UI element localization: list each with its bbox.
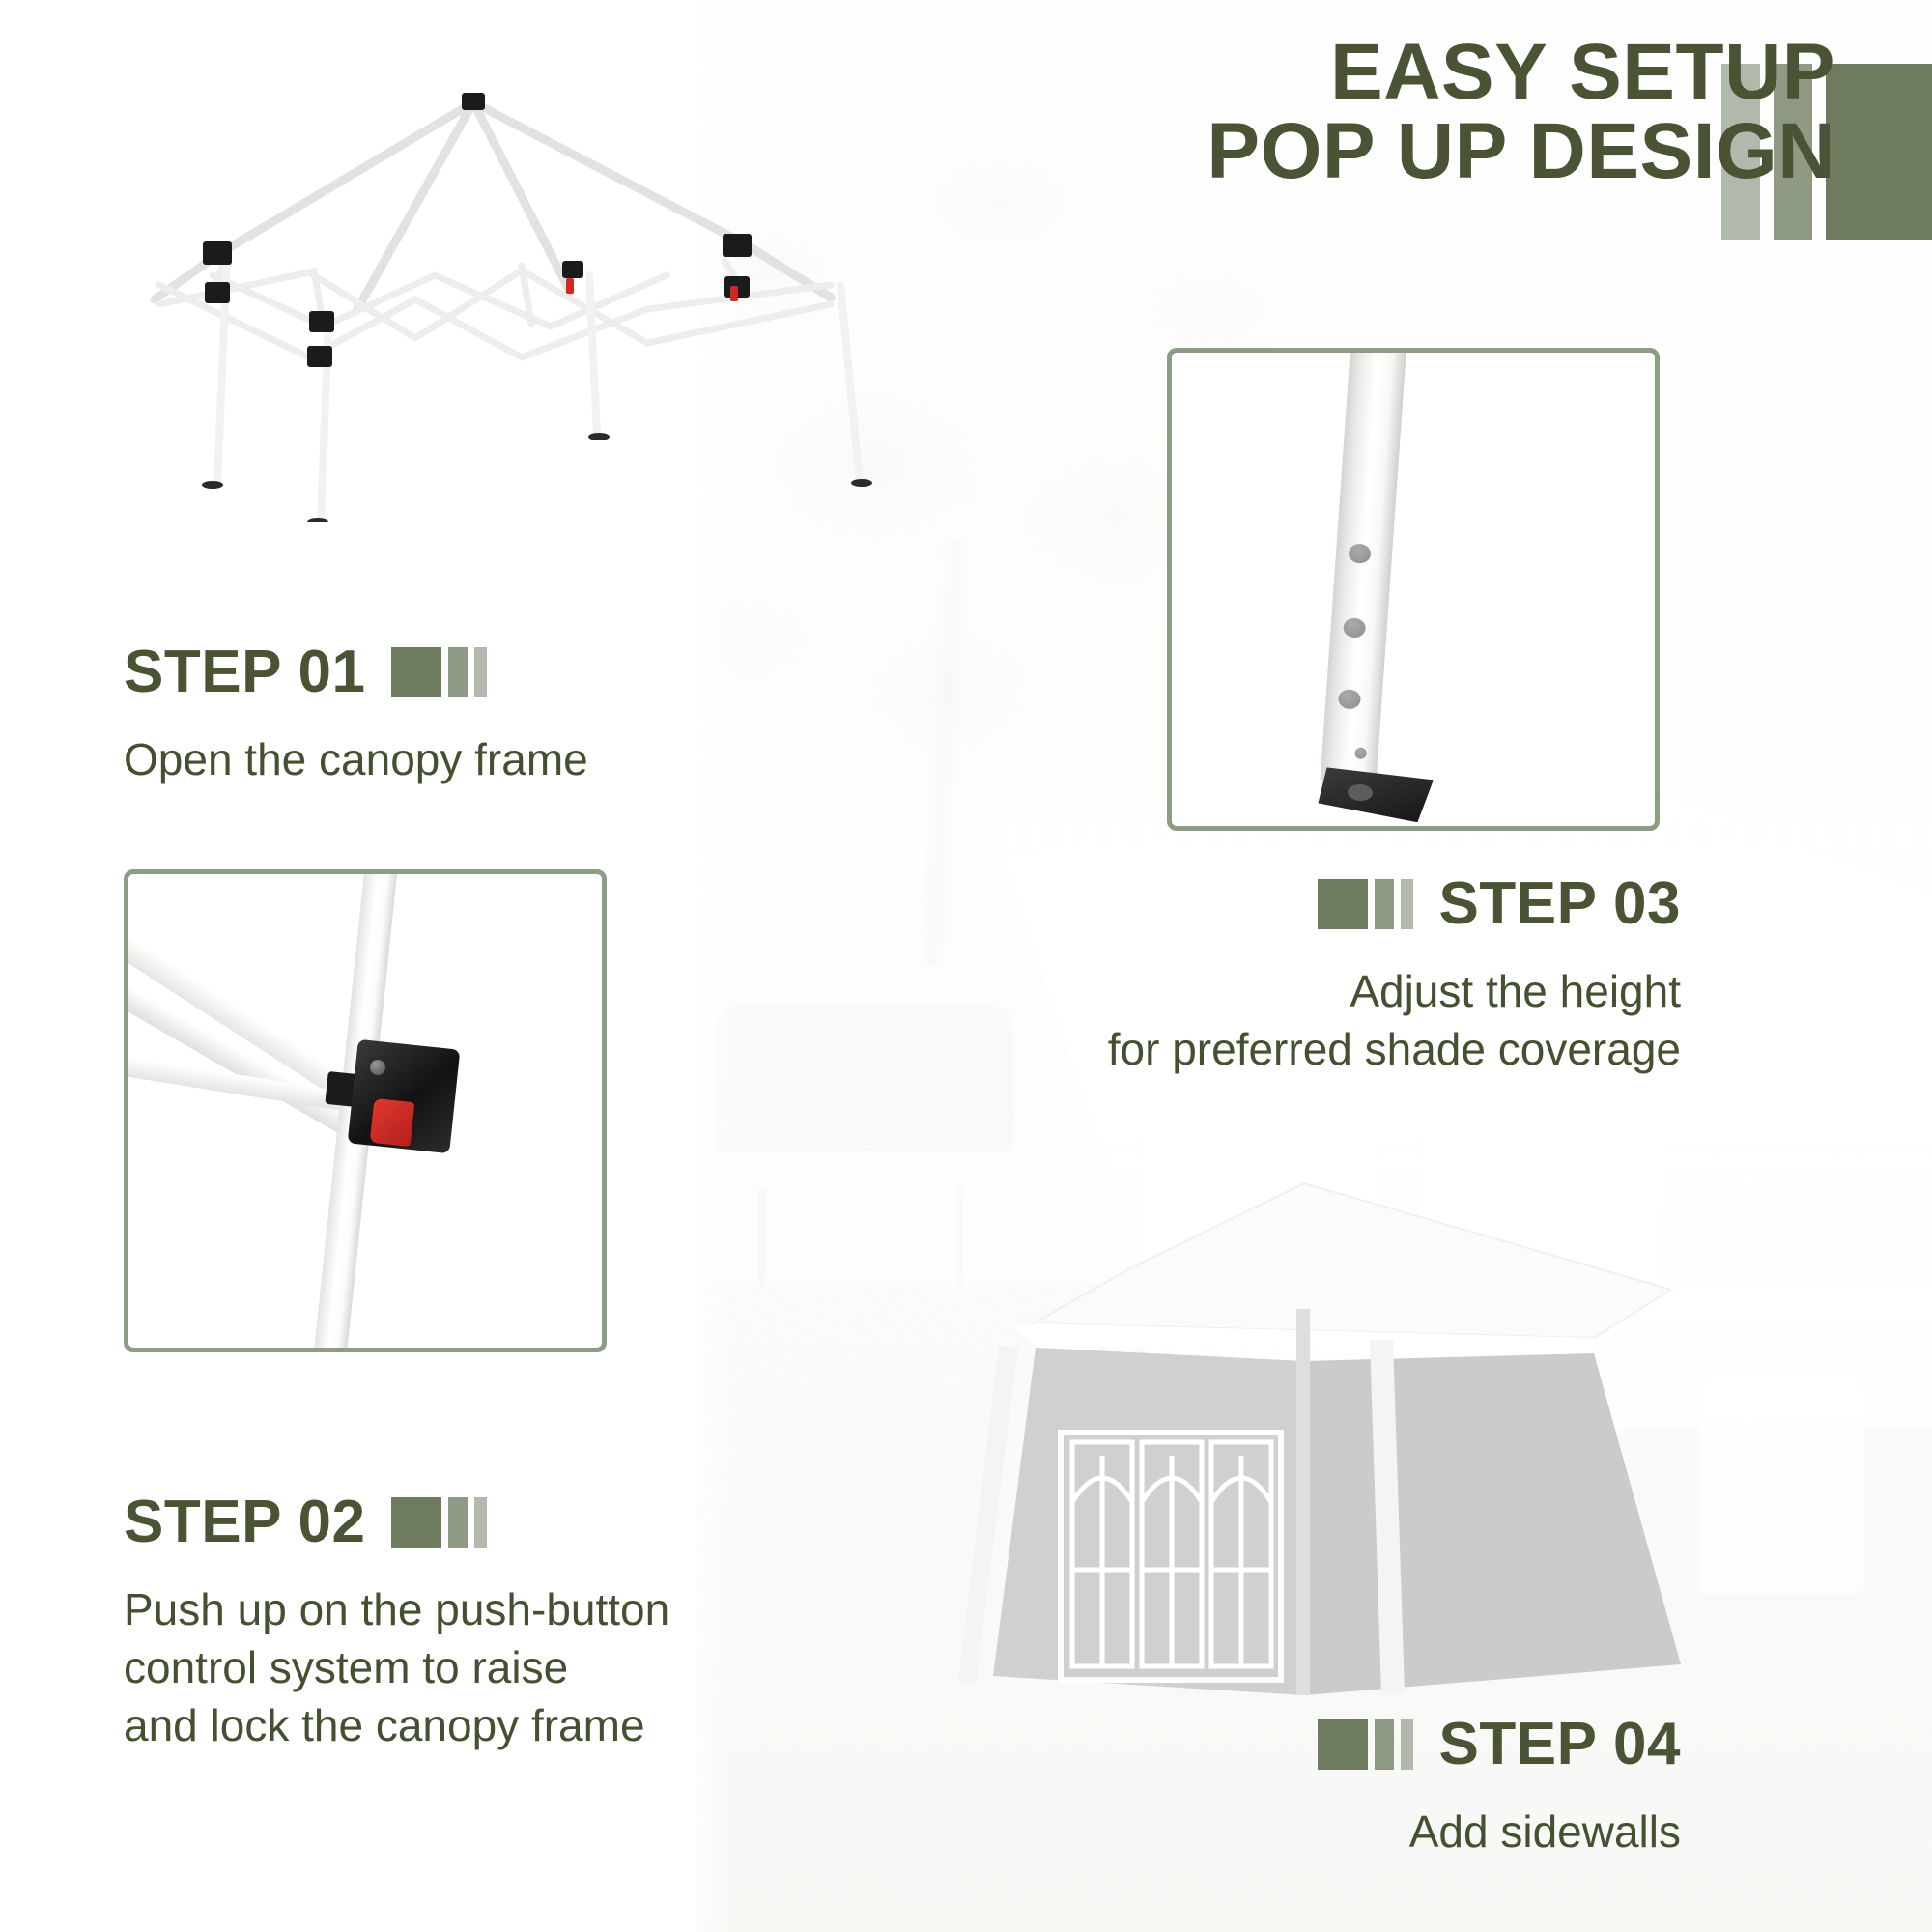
step-02-block: STEP 02 Push up on the push-button contr… [124,1488,669,1754]
headline-line-2: POP UP DESIGN [927,112,1835,191]
step-01-block: STEP 01 Open the canopy frame [124,638,588,789]
leg-foot-plate [1318,767,1435,823]
step-04-title: STEP 04 [966,1710,1681,1778]
mark-light [1401,1719,1413,1770]
canopy-frame-illustration [68,68,879,522]
mark-light [474,647,487,697]
step-02-marks [391,1497,487,1548]
mark-medium [448,1497,468,1548]
mark-medium [1375,879,1394,929]
step-04-marks [1318,1719,1413,1770]
headline: EASY SETUP POP UP DESIGN [927,33,1835,191]
frame-strut-lower [124,968,371,1146]
lock-screw [370,1060,385,1075]
step-03-title: STEP 03 [966,869,1681,938]
step-01-description: Open the canopy frame [124,731,588,789]
telescoping-leg [1321,348,1406,784]
step-01-label: STEP 01 [124,638,366,706]
headline-line-1: EASY SETUP [927,33,1835,112]
mark-dark [391,1497,441,1548]
step-03-description: Adjust the height for preferred shade co… [966,963,1681,1079]
infographic-canvas: EASY SETUP POP UP DESIGN [0,0,1932,1932]
mark-dark [1318,879,1368,929]
height-hole-4 [1354,747,1367,759]
mark-light [474,1497,487,1548]
height-hole-2 [1343,617,1366,639]
step-04-label: STEP 04 [1438,1710,1681,1778]
step-03-marks [1318,879,1413,929]
step-02-label: STEP 02 [124,1488,366,1556]
headline-bar-dark [1826,64,1932,240]
height-hole-1 [1348,543,1371,564]
step-01-title: STEP 01 [124,638,588,706]
mark-dark [391,647,441,697]
mark-medium [1375,1719,1394,1770]
red-push-button [370,1098,415,1147]
step-02-description: Push up on the push-button control syste… [124,1581,669,1754]
mark-light [1401,879,1413,929]
mark-medium [448,647,468,697]
step-04-description: Add sidewalls [966,1804,1681,1861]
push-button-lock-closeup [124,869,607,1352]
height-hole-3 [1338,689,1361,710]
step-01-marks [391,647,487,697]
step-03-label: STEP 03 [1438,869,1681,938]
step-02-title: STEP 02 [124,1488,669,1556]
adjustable-leg-closeup [1167,348,1660,831]
gazebo-with-sidewalls [918,1154,1690,1753]
mark-dark [1318,1719,1368,1770]
step-04-block: STEP 04 Add sidewalls [966,1710,1681,1861]
step-03-block: STEP 03 Adjust the height for preferred … [966,869,1681,1079]
